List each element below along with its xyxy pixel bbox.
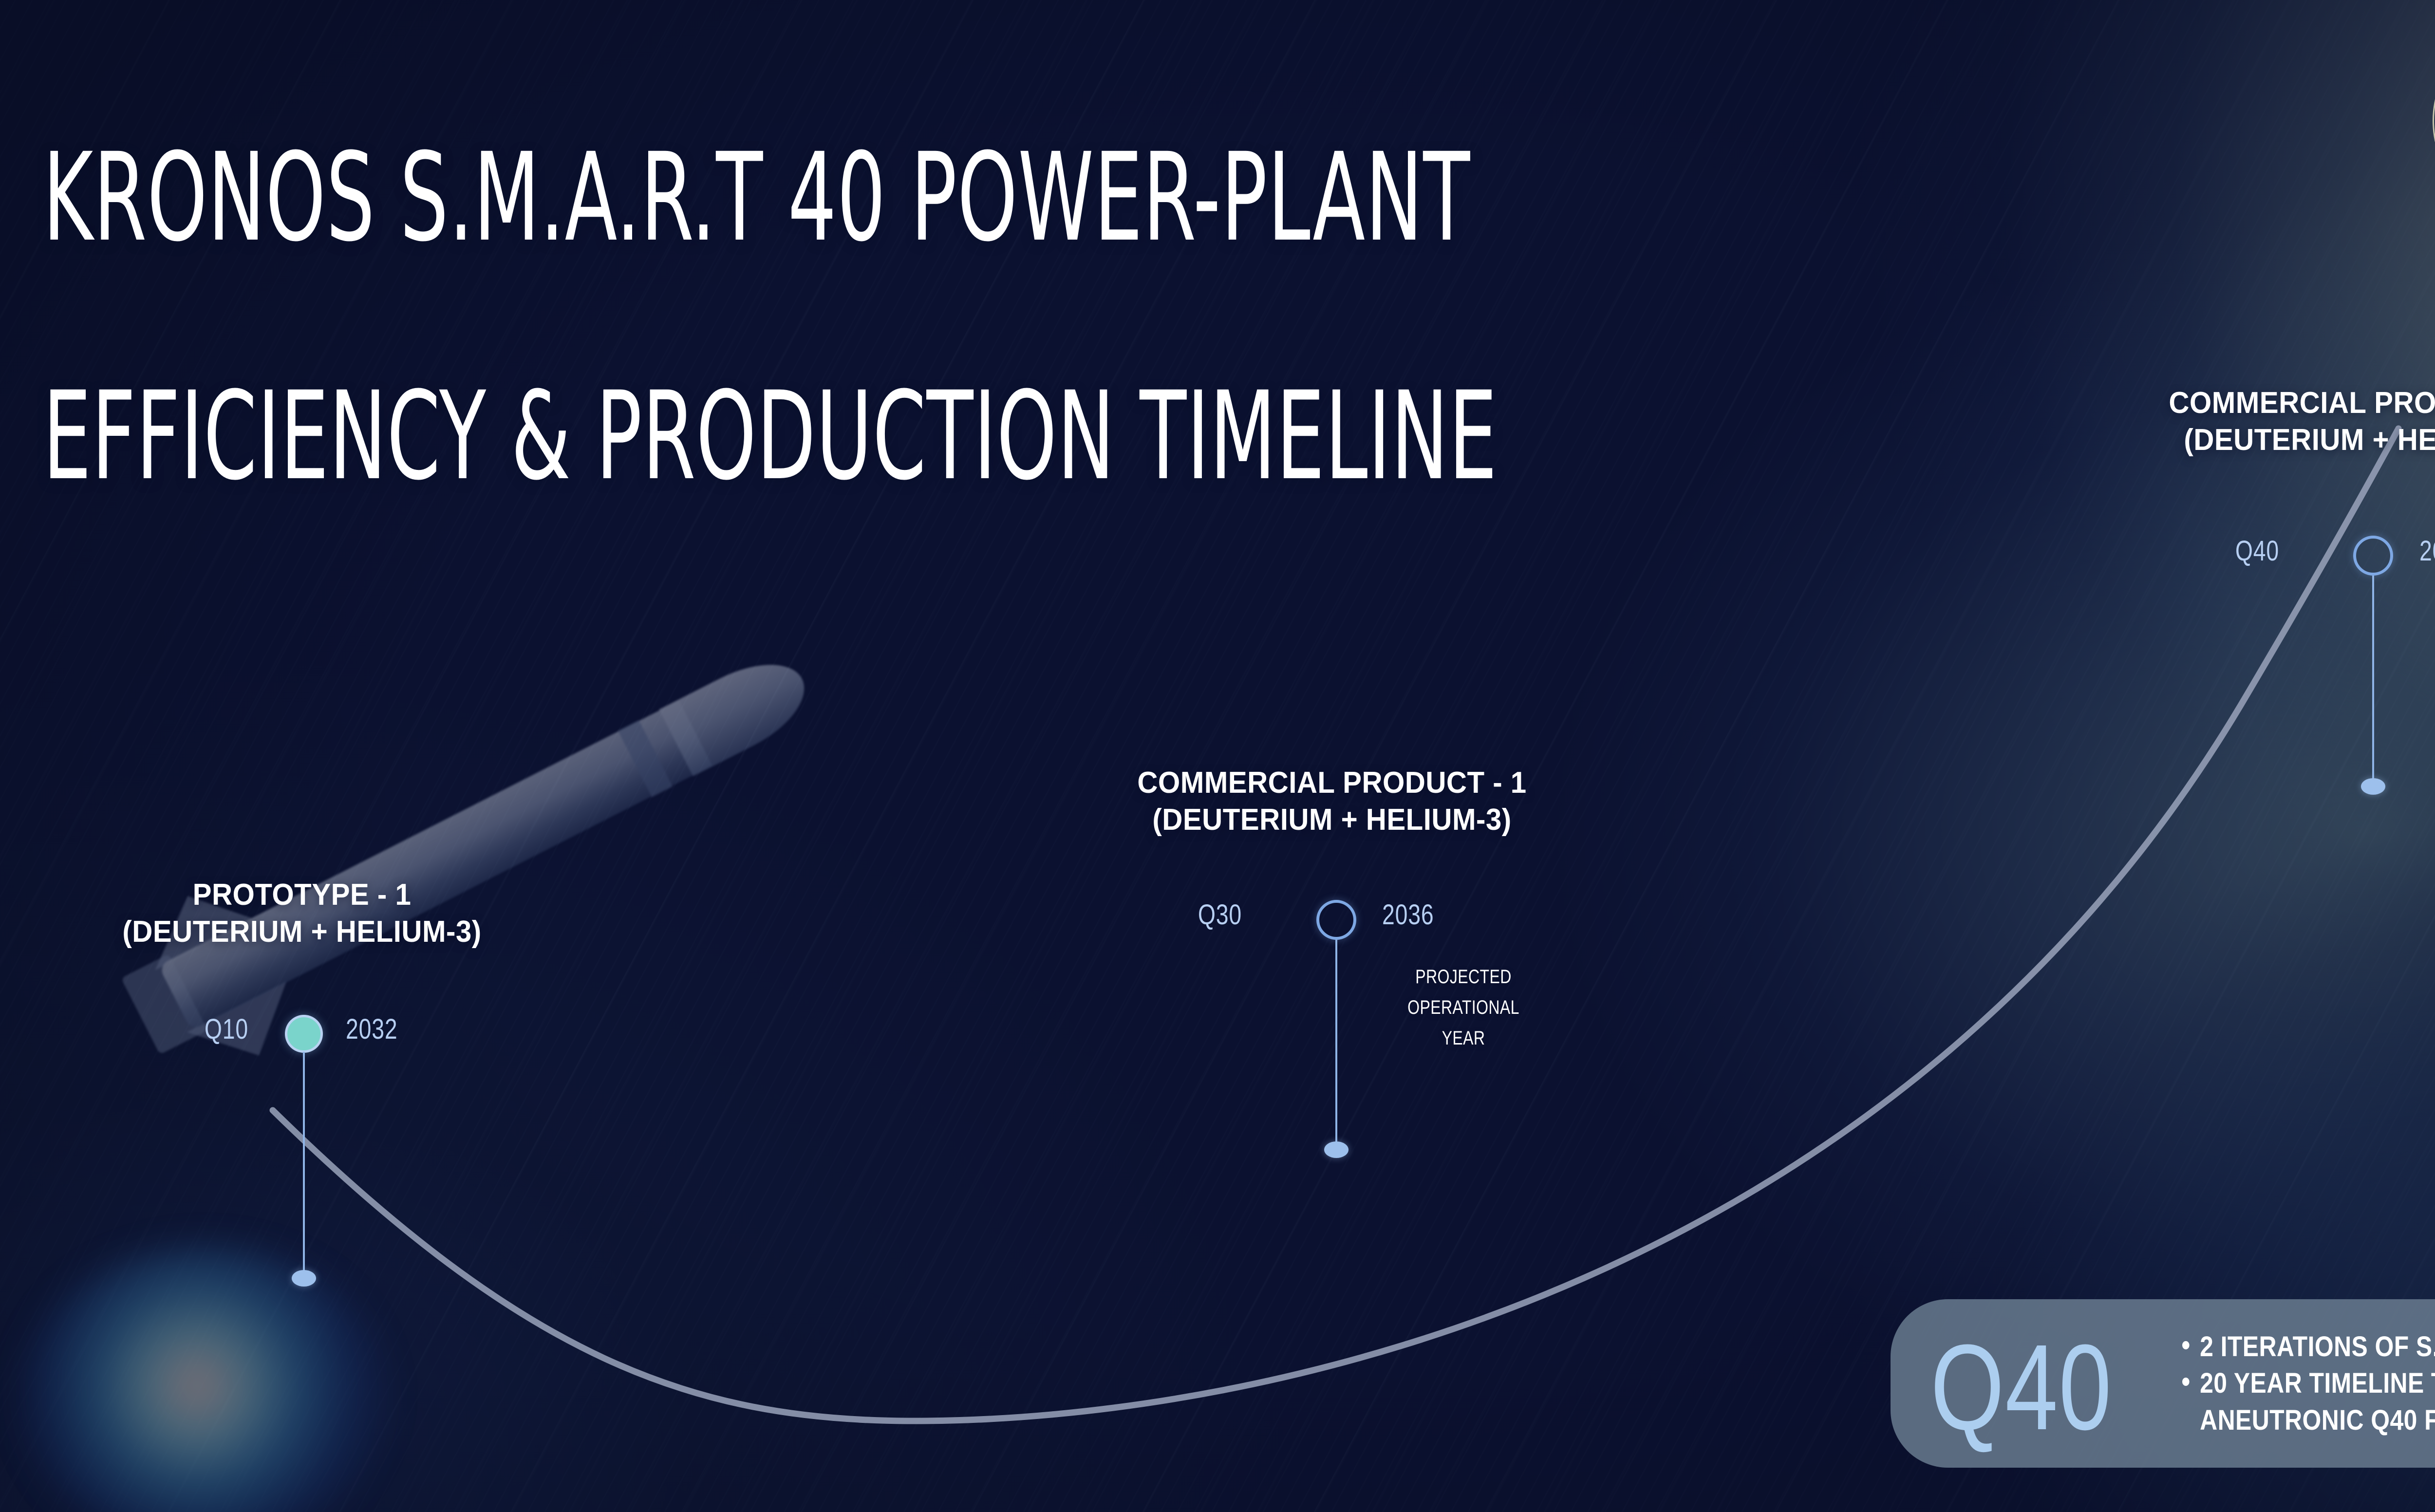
page-title: KRONOS S.M.A.R.T 40 POWER-PLANT EFFICIEN… (43, 19, 1645, 615)
milestone-1-marker-icon[interactable] (285, 1015, 323, 1053)
milestone-2-connector-line (1335, 940, 1337, 1147)
q40-summary-panel[interactable]: Q40 2 ITERATIONS OF S.M.A.R.T. 40 20 YEA… (1891, 1299, 2435, 1468)
milestone-3-year-label: 2045 (2419, 535, 2435, 567)
milestone-3-connector-line (2372, 576, 2374, 784)
kronos-logo: KRONOS TM (2433, 23, 2435, 228)
q40-bullet-list: 2 ITERATIONS OF S.M.A.R.T. 40 20 YEAR TI… (2182, 1328, 2435, 1438)
page-title-line-1: KRONOS S.M.A.R.T 40 POWER-PLANT (43, 138, 1645, 257)
milestone-2-subtext: PROJECTED OPERATIONAL YEAR (1286, 962, 1641, 1054)
q40-bullet-2: 20 YEAR TIMELINE TO ANEUTRONIC Q40 FUSIO… (2182, 1365, 2435, 1438)
milestone-3-anchor-dot (2361, 778, 2385, 795)
slide-canvas: KRONOS S.M.A.R.T 40 POWER-PLANT EFFICIEN… (0, 0, 2435, 1512)
milestone-1-anchor-dot (292, 1270, 316, 1287)
milestone-2-heading: COMMERCIAL PRODUCT - 1 (DEUTERIUM + HELI… (1028, 765, 1636, 838)
milestone-3-quarter-label: Q40 (2143, 535, 2279, 567)
milestone-1-heading: PROTOTYPE - 1 (DEUTERIUM + HELIUM-3) (37, 877, 567, 950)
milestone-3-subtext: PROJECTED OPERATIONAL YEAR (2323, 587, 2435, 679)
q40-badge: Q40 (1930, 1326, 2112, 1448)
milestone-3-heading: COMMERCIAL PRODUCT - 2 (DEUTERIUM + HELI… (2059, 385, 2435, 458)
page-title-line-2: EFFICIENCY & PRODUCTION TIMELINE (43, 376, 1645, 496)
milestone-1-year-label: 2032 (346, 1013, 478, 1045)
logo-circle-icon (2433, 23, 2435, 218)
milestone-1-quarter-label: Q10 (124, 1013, 248, 1045)
milestone-2-quarter-label: Q30 (1105, 898, 1242, 931)
milestone-2-year-label: 2036 (1382, 898, 1515, 931)
milestone-3-marker-icon[interactable] (2353, 536, 2393, 576)
milestone-2-anchor-dot (1324, 1141, 1349, 1158)
q40-bullet-1: 2 ITERATIONS OF S.M.A.R.T. 40 (2182, 1328, 2435, 1365)
milestone-2-marker-icon[interactable] (1316, 900, 1356, 940)
milestone-1-connector-line (303, 1052, 305, 1276)
